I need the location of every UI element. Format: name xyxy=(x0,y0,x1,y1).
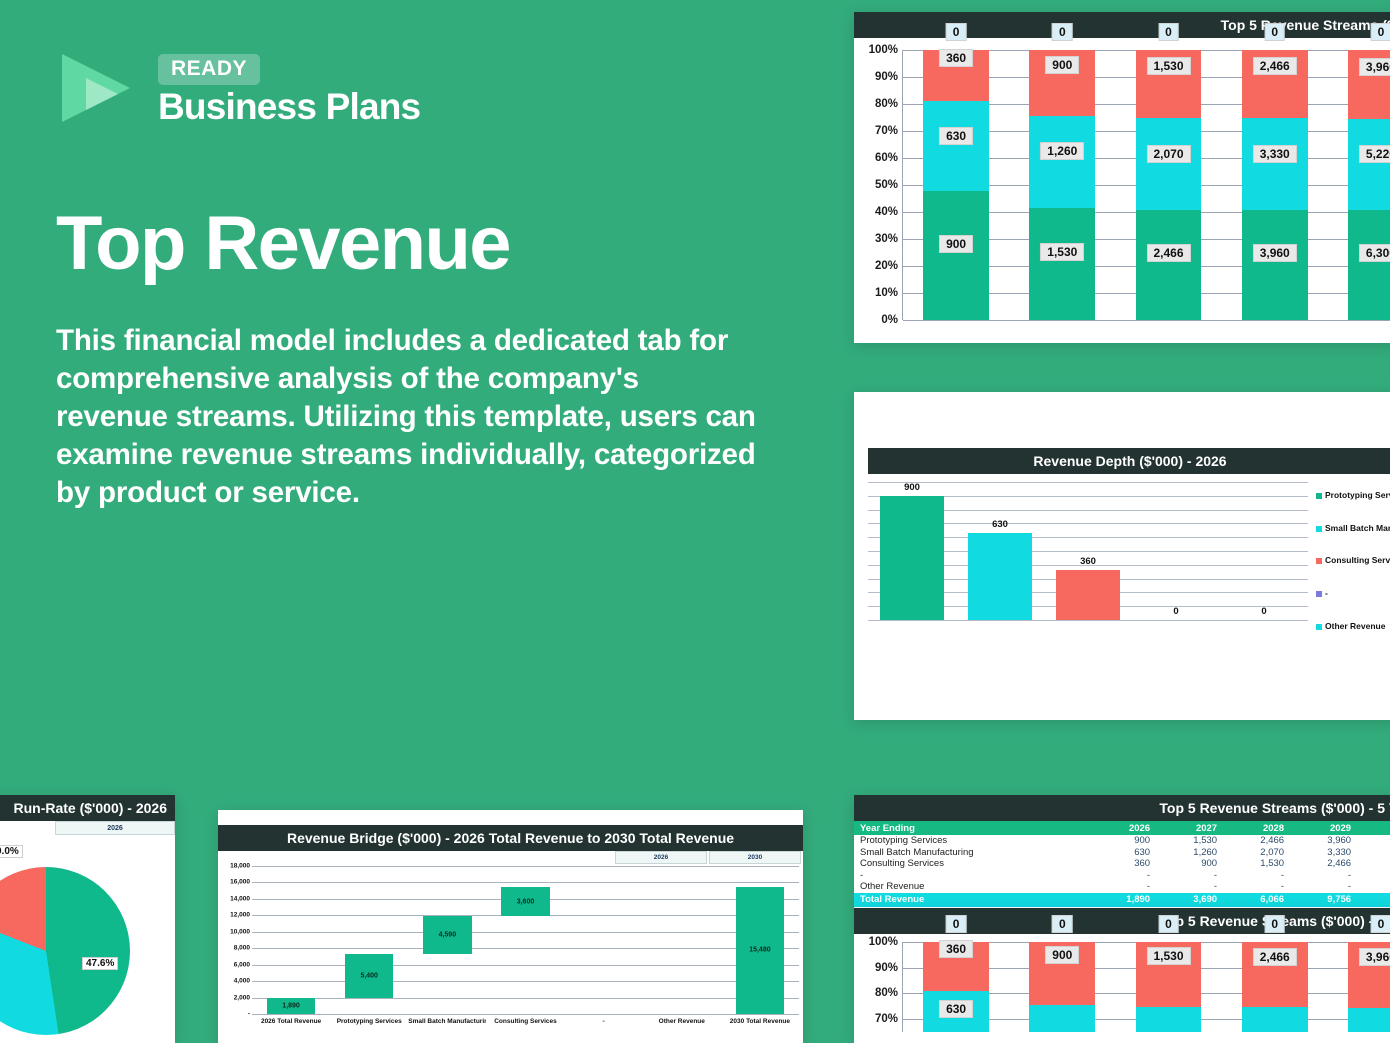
table-cell-value: 1,890 xyxy=(1089,893,1156,907)
bar-value-label: 3,330 xyxy=(1253,145,1297,163)
legend-item: Prototyping Services xyxy=(1316,490,1390,501)
top5-revenue-streams-5years-chart-card: Top 5 Revenue Streams ($'000) - 5 Years … xyxy=(854,908,1390,1043)
bar-value-label: 900 xyxy=(904,482,920,493)
table-cell-value: - xyxy=(1223,881,1290,893)
depth-bar: 360 xyxy=(1044,482,1132,620)
bar-value-label: 0 xyxy=(946,915,967,933)
waterfall-bar: 15,480 xyxy=(721,866,799,1014)
stacked-chart-plot-area: 70%80%90%100% 630360090001,53002,46603,9… xyxy=(854,934,1390,1043)
y-axis-tick: 6,000 xyxy=(234,961,250,968)
waterfall-bar: 4,590 xyxy=(408,866,486,1014)
table-header-cell: Year Ending xyxy=(854,821,1089,835)
y-axis-tick: 50% xyxy=(875,179,898,191)
bar-value-label: 4,590 xyxy=(439,932,457,939)
legend-label: Other Revenue xyxy=(1325,621,1385,632)
bridge-plot: 1,8905,4004,5903,60015,480 xyxy=(252,866,799,1014)
y-axis-tick: 100% xyxy=(869,44,898,56)
depth-bar: 630 xyxy=(956,482,1044,620)
legend-swatch xyxy=(1316,624,1322,630)
depth-bar: 900 xyxy=(868,482,956,620)
y-axis-tick: 10,000 xyxy=(230,928,250,935)
table-cell-value: 360 xyxy=(1089,858,1156,870)
bar-value-label: 2,466 xyxy=(1253,948,1297,966)
y-axis-ticks: 70%80%90%100% xyxy=(854,942,902,1032)
table-cell-value: 1,530 xyxy=(1223,858,1290,870)
table-cell-value: 3,330 xyxy=(1290,847,1357,859)
stacked-bar: 2,4662,0701,5300 xyxy=(1115,50,1221,320)
y-axis-tick: 100% xyxy=(869,936,898,948)
legend-swatch xyxy=(1316,493,1322,499)
bridge-year-selectors[interactable]: 2026 2030 xyxy=(218,851,803,864)
waterfall-bar: 5,400 xyxy=(330,866,408,1014)
table-cell-value: 900 xyxy=(1089,835,1156,847)
bar-value-label: 630 xyxy=(939,127,973,145)
waterfall-bar: 1,890 xyxy=(252,866,330,1014)
table-cell-value: 3,690 xyxy=(1156,893,1223,907)
revenue-run-rate-pie-card: Run-Rate ($'000) - 2026 2026 0.0% 0.0% .… xyxy=(0,795,175,1043)
table-cell-value: 2,466 xyxy=(1223,835,1290,847)
table-cell-value: 900 xyxy=(1156,858,1223,870)
stacked-bar: 9006303600 xyxy=(903,50,1009,320)
table-cell-value: 5,220 xyxy=(1357,847,1390,859)
plot-region: 90063036000 xyxy=(868,482,1308,620)
chart-title: Run-Rate ($'000) - 2026 xyxy=(0,795,175,821)
chart-title: Top 5 Revenue Streams ($'000) xyxy=(854,12,1390,38)
bridge-year-selector-end[interactable]: 2030 xyxy=(709,851,801,864)
table-cell-value: - xyxy=(1357,881,1390,893)
bar-value-label: 360 xyxy=(939,940,973,958)
chart-legend: Prototyping ServicesSmall Batch Manufact… xyxy=(1316,490,1390,653)
stacked-bar: 1,5300 xyxy=(1115,942,1221,1032)
brand-logo: READY Business Plans xyxy=(56,48,816,128)
table-cell-value: 3,960 xyxy=(1290,835,1357,847)
table-header-cell: 2027 xyxy=(1156,821,1223,835)
table-cell-value: 15,480 xyxy=(1357,893,1390,907)
bar-value-label: 0 xyxy=(1052,915,1073,933)
bar-value-label: 900 xyxy=(1045,946,1079,964)
bar-value-label: 0 xyxy=(1264,23,1285,41)
y-axis-tick: 80% xyxy=(875,987,898,999)
table-cell-value: 2,070 xyxy=(1223,847,1290,859)
table-header-cell: 2026 xyxy=(1089,821,1156,835)
pie-slice-label-prototyping: 47.6% xyxy=(82,957,118,970)
revenue-depth-title-row: Revenue Depth ($'000) - 2026 xyxy=(868,448,1390,474)
y-axis-tick: 0% xyxy=(881,314,898,326)
y-axis-tick: 70% xyxy=(875,1013,898,1025)
legend-swatch xyxy=(1316,526,1322,532)
y-axis-tick: 40% xyxy=(875,206,898,218)
bar-value-label: 2,466 xyxy=(1253,57,1297,75)
stacked-chart-plot-area: 0%10%20%30%40%50%60%70%80%90%100% 900630… xyxy=(854,38,1390,343)
top5-revenue-streams-chart-card: Top 5 Revenue Streams ($'000) 0%10%20%30… xyxy=(854,12,1390,343)
bar-value-label: 0 xyxy=(1371,915,1390,933)
x-axis-label: - xyxy=(565,1014,643,1032)
chart-title: Revenue Depth ($'000) - 2026 xyxy=(868,448,1390,474)
y-axis-tick: 14,000 xyxy=(230,895,250,902)
bar-value-label: 900 xyxy=(1045,56,1079,74)
bar-value-label: 3,960 xyxy=(1253,244,1297,262)
revenue-bridge-chart-card: Revenue Bridge ($'000) - 2026 Total Reve… xyxy=(218,810,803,1043)
y-axis-tick: 90% xyxy=(875,71,898,83)
bar-group: 630360090001,53002,46603,9600 xyxy=(903,942,1390,1032)
table-row: Other Revenue----- xyxy=(854,881,1390,893)
table-cell-value: 1,530 xyxy=(1156,835,1223,847)
bar-value-label: 1,890 xyxy=(282,1003,300,1010)
table-cell-value: 3,960 xyxy=(1357,858,1390,870)
bar-value-label: 1,260 xyxy=(1040,142,1084,160)
legend-label: Prototyping Services xyxy=(1325,490,1390,501)
legend-label: Small Batch Manufacturing xyxy=(1325,523,1390,534)
bar-value-label: 900 xyxy=(939,235,973,253)
legend-label: Consulting Services xyxy=(1325,555,1390,566)
bridge-year-selector-start[interactable]: 2026 xyxy=(615,851,707,864)
stacked-bar: 3,9603,3302,4660 xyxy=(1222,50,1328,320)
table-row: ------ xyxy=(854,870,1390,882)
bar-value-label: 0 xyxy=(1158,23,1179,41)
page-title: Top Revenue xyxy=(56,206,816,282)
bar-value-label: 2,070 xyxy=(1146,145,1190,163)
bar-value-label: 0 xyxy=(1052,23,1073,41)
legend-item: Other Revenue xyxy=(1316,621,1390,632)
x-axis-label: Small Batch Manufacturing xyxy=(408,1014,486,1032)
stacked-bar: 6303600 xyxy=(903,942,1009,1032)
bar-value-label: 6,300 xyxy=(1359,244,1390,262)
table-cell-label: Prototyping Services xyxy=(854,835,1089,847)
x-axis-label: Prototyping Services xyxy=(330,1014,408,1032)
bar-group: 90063036001,5301,26090002,4662,0701,5300… xyxy=(903,50,1390,320)
bar-value-label: 0 xyxy=(1261,606,1266,617)
bar-value-label: 3,960 xyxy=(1359,58,1390,76)
legend-swatch xyxy=(1316,558,1322,564)
depth-bar: 0 xyxy=(1132,482,1220,620)
y-axis-tick: 10% xyxy=(875,287,898,299)
legend-item: Small Batch Manufacturing xyxy=(1316,523,1390,534)
table-row: Small Batch Manufacturing6301,2602,0703,… xyxy=(854,847,1390,859)
table-cell-value: - xyxy=(1156,881,1223,893)
bar-value-label: 360 xyxy=(939,49,973,67)
bar-value-label: 360 xyxy=(1080,556,1096,567)
year-selector[interactable]: 2026 xyxy=(55,821,175,835)
legend-item: Consulting Services xyxy=(1316,555,1390,566)
table-cell-value: 6,300 xyxy=(1357,835,1390,847)
y-axis-tick: 30% xyxy=(875,233,898,245)
table-cell-label: Total Revenue xyxy=(854,893,1089,907)
plot-region: -2,0004,0006,0008,00010,00012,00014,0001… xyxy=(218,866,803,1014)
bar-value-label: 15,480 xyxy=(749,947,770,954)
y-axis-tick: 60% xyxy=(875,152,898,164)
bar-value-label: 2,466 xyxy=(1146,244,1190,262)
table-cell-label: Consulting Services xyxy=(854,858,1089,870)
hero-section: READY Business Plans Top Revenue This fi… xyxy=(56,48,816,512)
bar-value-label: 0 xyxy=(1264,915,1285,933)
bar-value-label: 1,530 xyxy=(1146,57,1190,75)
table-header-cell: 2030 xyxy=(1357,821,1390,835)
legend-label: - xyxy=(1325,588,1328,599)
table-cell-value: 9,756 xyxy=(1290,893,1357,907)
table-total-row: Total Revenue1,8903,6906,0669,75615,480 xyxy=(854,893,1390,907)
bar-value-label: 3,600 xyxy=(517,898,535,905)
brand-text: READY Business Plans xyxy=(158,50,420,127)
x-axis-label: 2026 Total Revenue xyxy=(252,1014,330,1032)
y-axis-ticks: -2,0004,0006,0008,00010,00012,00014,0001… xyxy=(218,866,252,1014)
brand-name: Business Plans xyxy=(158,88,420,127)
waterfall-bar xyxy=(643,866,721,1014)
plot-region: 90063036001,5301,26090002,4662,0701,5300… xyxy=(902,50,1390,320)
y-axis-tick: 12,000 xyxy=(230,912,250,919)
table-header-row: Year Ending20262027202820292030 xyxy=(854,821,1390,835)
x-axis-labels: 2026 Total RevenuePrototyping ServicesSm… xyxy=(252,1014,799,1032)
ready-badge: READY xyxy=(158,54,260,85)
table-row: Prototyping Services9001,5302,4663,9606,… xyxy=(854,835,1390,847)
table-header-cell: 2028 xyxy=(1223,821,1290,835)
bar-group: 1,8905,4004,5903,60015,480 xyxy=(252,866,799,1014)
table-cell-value: 1,260 xyxy=(1156,847,1223,859)
table-cell-value: - xyxy=(1290,881,1357,893)
hero-description: This financial model includes a dedicate… xyxy=(56,322,756,512)
table-cell-value: - xyxy=(1223,870,1290,882)
chart-title: Top 5 Revenue Streams ($'000) - 5 Years xyxy=(854,908,1390,934)
waterfall-bar xyxy=(565,866,643,1014)
bar-value-label: 5,400 xyxy=(360,973,378,980)
table-cell-value: - xyxy=(1357,870,1390,882)
y-axis-tick: 80% xyxy=(875,98,898,110)
bar-value-label: 630 xyxy=(992,519,1008,530)
revenue-depth-chart-card: Revenue Depth ($'000) - 2026 90063036000… xyxy=(854,392,1390,720)
table-cell-value: 2,466 xyxy=(1290,858,1357,870)
y-axis-ticks: 0%10%20%30%40%50%60%70%80%90%100% xyxy=(854,50,902,320)
y-axis-tick: 20% xyxy=(875,260,898,272)
bar-value-label: 0 xyxy=(1158,915,1179,933)
y-axis-tick: 70% xyxy=(875,125,898,137)
bar-value-label: 3,960 xyxy=(1359,948,1390,966)
table-row: Consulting Services3609001,5302,4663,960 xyxy=(854,858,1390,870)
pie-chart xyxy=(0,867,130,1035)
stacked-bar: 1,5301,2609000 xyxy=(1009,50,1115,320)
pie-plot-area: 0.0% 0.0% .0% 47.6% xyxy=(0,835,175,1043)
table-cell-label: - xyxy=(854,870,1089,882)
table-cell-value: 630 xyxy=(1089,847,1156,859)
x-axis-label: Consulting Services xyxy=(486,1014,564,1032)
bar-value-label: 0 xyxy=(1173,606,1178,617)
top5-revenue-table-card: Top 5 Revenue Streams ($'000) - 5 Years … xyxy=(854,795,1390,910)
y-axis-tick: 90% xyxy=(875,962,898,974)
table-cell-value: - xyxy=(1156,870,1223,882)
bar-value-label: 0 xyxy=(946,23,967,41)
bar-group: 90063036000 xyxy=(868,482,1308,620)
pie-slice-label-other: 0.0% xyxy=(0,845,23,858)
table-cell-label: Other Revenue xyxy=(854,881,1089,893)
bar-value-label: 1,530 xyxy=(1146,947,1190,965)
table-cell-value: - xyxy=(1089,881,1156,893)
y-axis-tick: 4,000 xyxy=(234,978,250,985)
table-title: Top 5 Revenue Streams ($'000) - 5 Years xyxy=(854,795,1390,821)
stacked-bar: 9000 xyxy=(1009,942,1115,1032)
x-axis-label: 2030 Total Revenue xyxy=(721,1014,799,1032)
table-header-cell: 2029 xyxy=(1290,821,1357,835)
x-axis-label: Other Revenue xyxy=(643,1014,721,1032)
stacked-bar: 6,3005,2203,9600 xyxy=(1328,50,1390,320)
bar-value-label: 630 xyxy=(939,1000,973,1018)
table-cell-label: Small Batch Manufacturing xyxy=(854,847,1089,859)
bar-value-label: 0 xyxy=(1371,23,1390,41)
chart-title: Revenue Bridge ($'000) - 2026 Total Reve… xyxy=(218,825,803,851)
y-axis-tick: - xyxy=(248,1011,250,1018)
legend-item: - xyxy=(1316,588,1390,599)
y-axis-tick: 16,000 xyxy=(230,879,250,886)
table-cell-value: - xyxy=(1290,870,1357,882)
stacked-bar: 3,9600 xyxy=(1328,942,1390,1032)
play-triangle-icon xyxy=(56,48,140,128)
plot-region: 630360090001,53002,46603,9600 xyxy=(902,942,1390,1032)
y-axis-tick: 8,000 xyxy=(234,945,250,952)
y-axis-tick: 2,000 xyxy=(234,994,250,1001)
table-body: Prototyping Services9001,5302,4663,9606,… xyxy=(854,835,1390,907)
legend-swatch xyxy=(1316,591,1322,597)
bar-value-label: 1,530 xyxy=(1040,243,1084,261)
year-selector-row[interactable]: 2026 xyxy=(0,821,175,835)
revenue-table: Year Ending20262027202820292030 Prototyp… xyxy=(854,821,1390,907)
table-cell-value: - xyxy=(1089,870,1156,882)
table-cell-value: 6,066 xyxy=(1223,893,1290,907)
depth-bar: 0 xyxy=(1220,482,1308,620)
waterfall-bar: 3,600 xyxy=(486,866,564,1014)
y-axis-tick: 18,000 xyxy=(230,863,250,870)
stacked-bar: 2,4660 xyxy=(1222,942,1328,1032)
bar-value-label: 5,220 xyxy=(1359,145,1390,163)
